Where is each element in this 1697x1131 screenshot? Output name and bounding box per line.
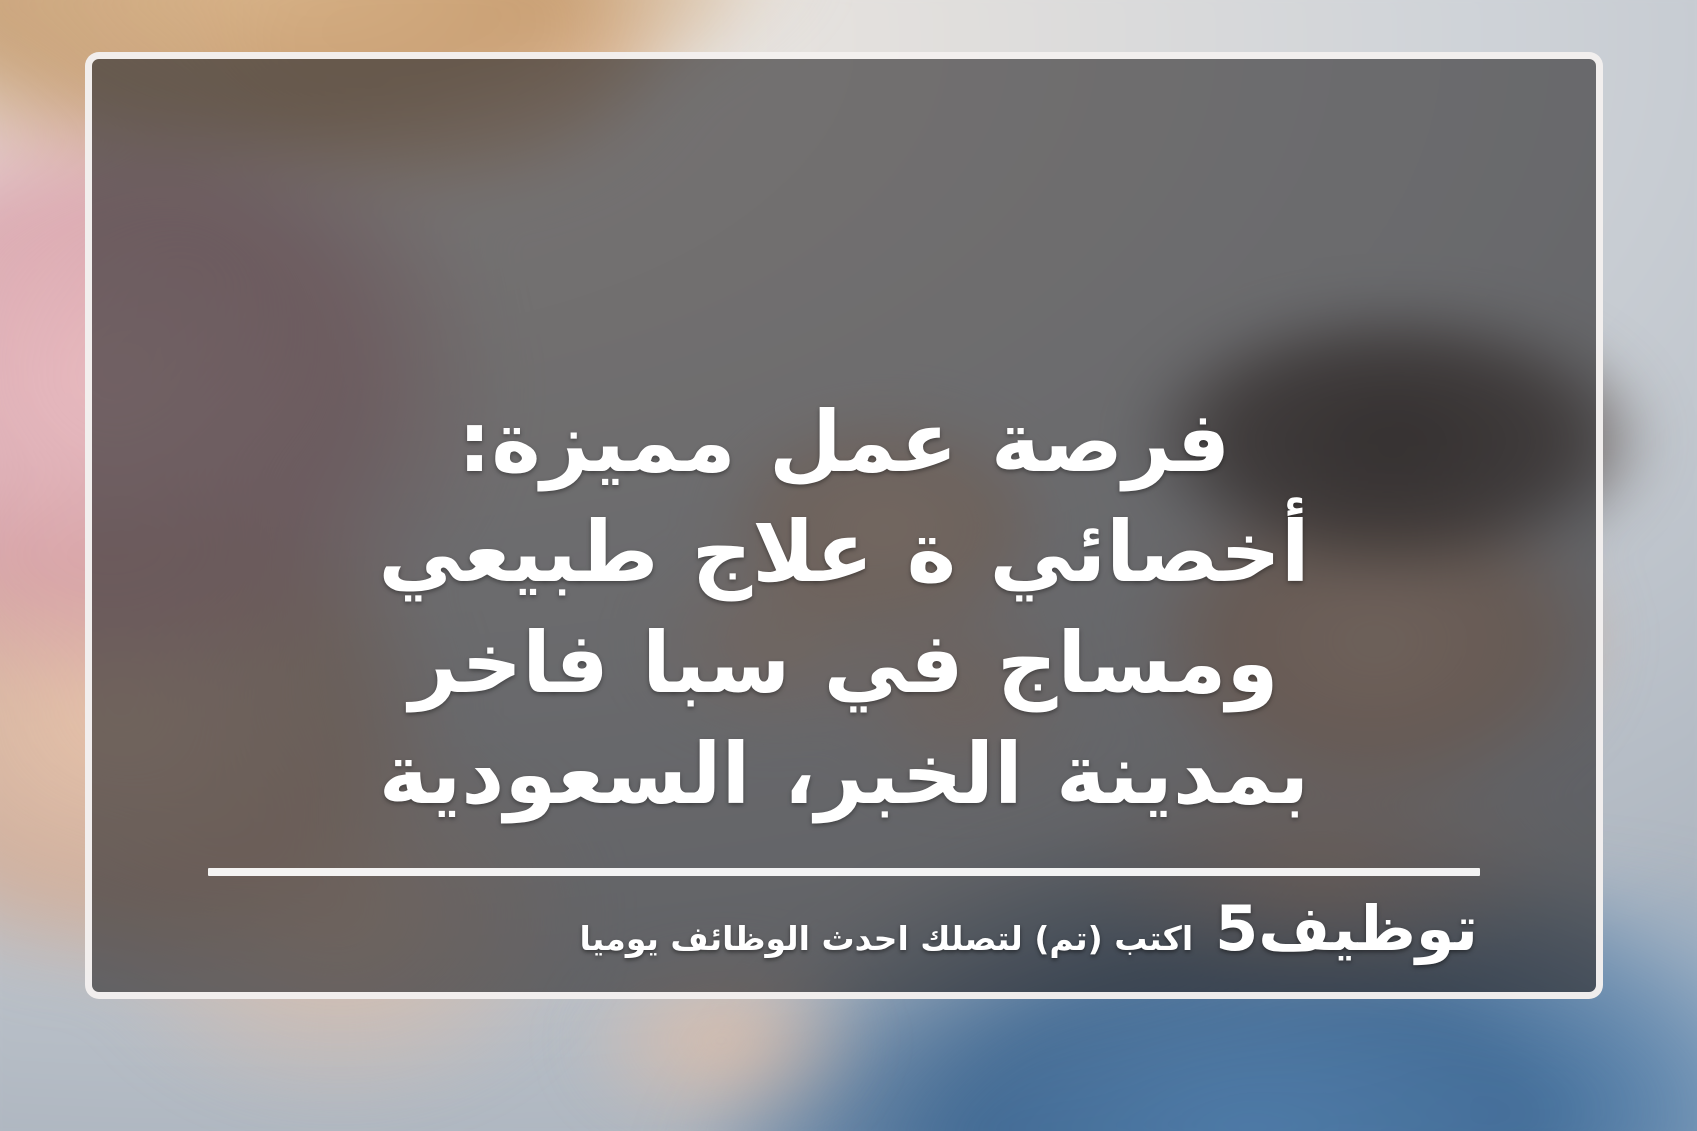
headline-line-2: أخصائي ة علاج طبيعي [142, 497, 1546, 608]
footer: توظيف5 اكتب (تم) لتصلك احدث الوظائف يومي… [132, 898, 1556, 978]
banner-stage: فرصة عمل مميزة: أخصائي ة علاج طبيعي ومسا… [0, 0, 1697, 1131]
headline-line-1: فرصة عمل مميزة: [142, 387, 1546, 498]
brand-name: توظيف5 [1215, 898, 1478, 960]
headline: فرصة عمل مميزة: أخصائي ة علاج طبيعي ومسا… [132, 387, 1556, 831]
headline-line-4: بمدينة الخبر، السعودية [142, 719, 1546, 830]
headline-line-3: ومساج في سبا فاخر [142, 608, 1546, 719]
content-panel-inner: فرصة عمل مميزة: أخصائي ة علاج طبيعي ومسا… [92, 59, 1596, 992]
footer-tagline: اكتب (تم) لتصلك احدث الوظائف يوميا [580, 922, 1194, 955]
divider [208, 868, 1480, 876]
content-panel: فرصة عمل مميزة: أخصائي ة علاج طبيعي ومسا… [85, 52, 1603, 999]
